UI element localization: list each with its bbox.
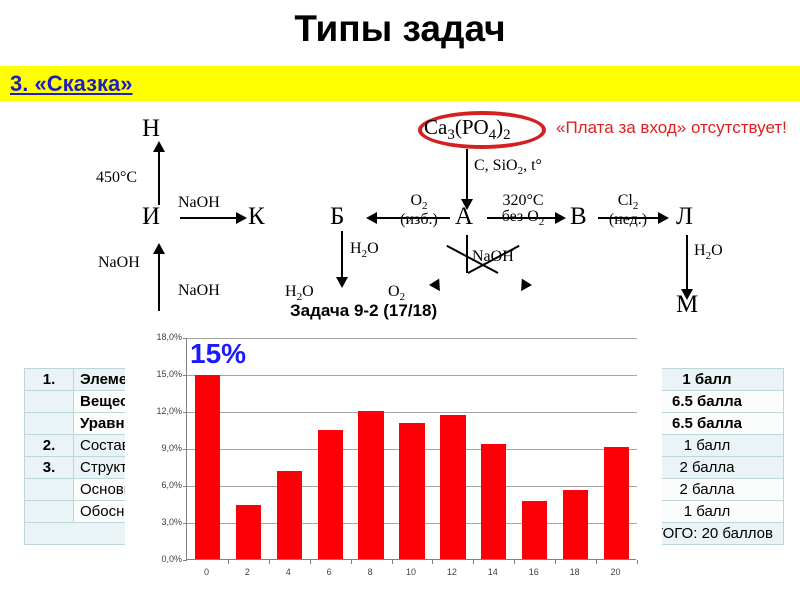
- cond-h2o-l: H2O: [694, 243, 723, 262]
- chart-x-tick-label: 6: [309, 567, 350, 577]
- arrowhead-down-B: [336, 277, 348, 288]
- row-number: 2.: [25, 435, 74, 457]
- chart-bar: [358, 411, 383, 559]
- chart-bar: [399, 423, 424, 559]
- chart-x-tick-label: 12: [431, 567, 472, 577]
- chart-gridline: [187, 375, 637, 376]
- chart-x-tickmark: [269, 560, 270, 564]
- chart-panel: 15% 0,0%3,0%6,0%9,0%12,0%15,0%18,0%02468…: [125, 328, 662, 595]
- arrowhead-right-K: [236, 212, 247, 224]
- page-title: Типы задач: [0, 8, 800, 50]
- chart-x-tick-label: 2: [227, 567, 268, 577]
- chart-x-tick-label: 14: [472, 567, 513, 577]
- chart-x-tickmark: [596, 560, 597, 564]
- chart-y-tickmark: [183, 523, 187, 524]
- row-number: 1.: [25, 369, 74, 391]
- cond-naoh-i-k: NaOH: [178, 195, 220, 211]
- chart-x-tickmark: [432, 560, 433, 564]
- chart-x-tick-label: 10: [391, 567, 432, 577]
- cond-naoh-bottom: NaOH: [178, 283, 220, 299]
- chart-y-tick-label: 12,0%: [126, 406, 182, 416]
- chart-x-tick-label: 4: [268, 567, 309, 577]
- slide-root: Типы задач 3. «Сказка» Н 450°C И NaOH К …: [0, 0, 800, 600]
- chart-x-tickmark: [555, 560, 556, 564]
- arrowhead-fork-left: [429, 279, 445, 295]
- chart-y-tick-label: 9,0%: [126, 443, 182, 453]
- cond-320c: 320°Cбез O2: [490, 193, 556, 228]
- chart-gridline: [187, 412, 637, 413]
- chart-bar: [563, 490, 588, 559]
- arrow-start-to-A: [466, 149, 468, 205]
- section-band-label: 3. «Сказка»: [10, 71, 133, 97]
- chart-bar: [318, 430, 343, 560]
- chart-x-tickmark: [473, 560, 474, 564]
- chart-x-tickmark: [392, 560, 393, 564]
- chart-bar: [522, 501, 547, 559]
- arrowhead-fork-right: [516, 279, 532, 295]
- cond-o2-izb: O2(изб.): [393, 193, 445, 228]
- arrowhead-up-H: [153, 141, 165, 152]
- chart-bar: [481, 444, 506, 559]
- reaction-scheme: Н 450°C И NaOH К NaOH NaOH Ca3(PO4)2 «Пл…: [0, 101, 800, 336]
- chart-x-tickmark: [351, 560, 352, 564]
- chart-bar: [195, 375, 220, 559]
- chart-gridline: [187, 338, 637, 339]
- task-label: Задача 9-2 (17/18): [290, 301, 437, 321]
- node-M: М: [676, 291, 698, 319]
- chart-x-tick-label: 20: [595, 567, 636, 577]
- cond-c-sio2-t: C, SiO2, t°: [474, 158, 542, 177]
- chart-y-tickmark: [183, 338, 187, 339]
- chart-bar: [277, 471, 302, 559]
- chart-y-tickmark: [183, 412, 187, 413]
- row-number: [25, 501, 74, 523]
- chart-x-tick-label: 8: [350, 567, 391, 577]
- arrow-A-fork-stem: [466, 235, 468, 273]
- callout-text: «Плата за вход» отсутствует!: [556, 118, 787, 138]
- chart-y-tick-label: 15,0%: [126, 369, 182, 379]
- row-number: [25, 413, 74, 435]
- node-H: Н: [142, 115, 160, 143]
- cond-h2o-b: H2O: [350, 241, 379, 260]
- chart-y-tickmark: [183, 449, 187, 450]
- chart-y-tick-label: 3,0%: [126, 517, 182, 527]
- arrowhead-left-B: [366, 212, 377, 224]
- chart-y-tickmark: [183, 560, 187, 561]
- chart-x-tickmark: [310, 560, 311, 564]
- chart-x-tickmark: [637, 560, 638, 564]
- arrow-I-to-H: [158, 147, 160, 205]
- row-number: [25, 479, 74, 501]
- arrow-B-down: [341, 231, 343, 283]
- arrowhead-right-L: [658, 212, 669, 224]
- chart-y-tickmark: [183, 375, 187, 376]
- chart-x-tick-label: 16: [513, 567, 554, 577]
- cond-cl2-ned: Cl2(нед.): [600, 193, 656, 228]
- chart-bar: [236, 505, 261, 559]
- node-V: В: [570, 203, 587, 231]
- chart-y-tick-label: 6,0%: [126, 480, 182, 490]
- arrow-I-to-K: [180, 217, 238, 219]
- node-L: Л: [676, 203, 693, 231]
- cond-450c: 450°C: [96, 170, 137, 186]
- chart-bar: [440, 415, 465, 559]
- chart-plot-area: [186, 338, 636, 560]
- arrow-bottom-to-I: [158, 249, 160, 311]
- node-A: А: [455, 203, 473, 231]
- chart-x-tickmark: [514, 560, 515, 564]
- chart-y-tick-label: 0,0%: [126, 554, 182, 564]
- chart-bar: [604, 447, 629, 559]
- chart-x-tick-label: 0: [186, 567, 227, 577]
- chart-y-tick-label: 18,0%: [126, 332, 182, 342]
- node-B: Б: [330, 203, 344, 231]
- node-I: И: [142, 203, 160, 231]
- node-start: Ca3(PO4)2: [424, 115, 511, 144]
- node-K: К: [248, 203, 265, 231]
- chart-x-tick-label: 18: [554, 567, 595, 577]
- arrowhead-up-I: [153, 243, 165, 254]
- cond-naoh-left: NaOH: [98, 255, 140, 271]
- row-number: 3.: [25, 457, 74, 479]
- chart-x-tickmark: [228, 560, 229, 564]
- arrowhead-right-V: [555, 212, 566, 224]
- arrow-L-to-M: [686, 235, 688, 295]
- row-number: [25, 391, 74, 413]
- chart-y-tickmark: [183, 486, 187, 487]
